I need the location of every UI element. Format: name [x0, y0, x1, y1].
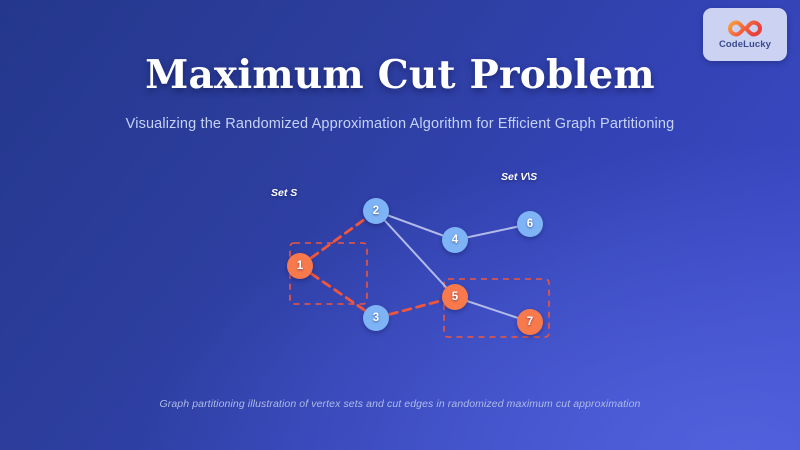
graph-node-4[interactable]: 4: [442, 227, 468, 253]
edge-1-2-cut: [300, 211, 376, 266]
graph-node-6[interactable]: 6: [517, 211, 543, 237]
set-v-minus-s-label: Set V\S: [501, 171, 537, 183]
edge-group: [300, 211, 530, 322]
set-s-label: Set S: [271, 187, 297, 199]
slide-root: Maximum Cut Problem Visualizing the Rand…: [0, 0, 800, 450]
graph-node-7[interactable]: 7: [517, 309, 543, 335]
graph-node-1[interactable]: 1: [287, 253, 313, 279]
graph-node-3[interactable]: 3: [363, 305, 389, 331]
graph-canvas: [0, 0, 800, 450]
graph-node-2[interactable]: 2: [363, 198, 389, 224]
edge-2-5: [376, 211, 455, 297]
footer-caption: Graph partitioning illustration of verte…: [0, 398, 800, 410]
graph-node-5[interactable]: 5: [442, 284, 468, 310]
